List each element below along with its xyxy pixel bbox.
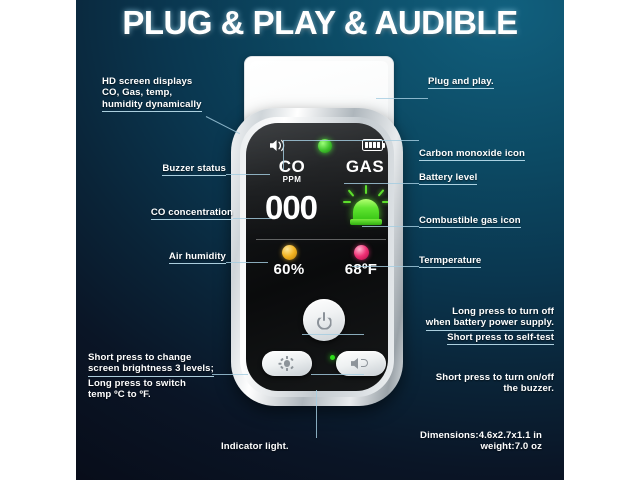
callout-self-test: Short press to self-test: [346, 332, 554, 345]
leader-co-icon-v: [283, 140, 284, 170]
leader-co-icon-h: [283, 140, 419, 141]
callout-temperature: Termperature: [419, 255, 481, 268]
leader-plug-and-play: [376, 98, 428, 99]
device-bezel: CO PPM GAS 000: [240, 117, 394, 397]
power-icon: [316, 312, 333, 329]
device-body: CO PPM GAS 000: [231, 108, 403, 406]
leader-air-humidity: [226, 262, 268, 263]
temperature-value: 68ºF: [330, 261, 388, 278]
callout-combustible-gas-icon: Combustible gas icon: [419, 215, 521, 228]
co-reading-value: 000: [252, 191, 330, 224]
brightness-icon: [280, 356, 295, 371]
humidity-value: 60%: [258, 261, 320, 278]
buzzer-icon: [351, 357, 371, 370]
callout-buzzer-status: Buzzer status: [76, 163, 226, 176]
leader-buzzer-toggle: [311, 374, 364, 375]
infographic-panel: PLUG & PLAY & AUDIBLE: [76, 0, 564, 480]
callout-temp-unit: Long press to switch temp ºC to ºF.: [88, 378, 186, 401]
callout-buzzer-toggle: Short press to turn on/off the buzzer.: [346, 372, 554, 395]
leader-indicator-light: [316, 390, 317, 438]
leader-combustible-gas-icon: [362, 226, 419, 227]
letterbox-left: [0, 0, 76, 480]
co-label: CO: [262, 157, 322, 177]
page-title: PLUG & PLAY & AUDIBLE: [76, 4, 564, 42]
combustible-gas-siren-icon: [342, 185, 388, 231]
temperature-readout: 68ºF: [330, 245, 388, 278]
device-screen: CO PPM GAS 000: [246, 123, 388, 281]
callout-co-concentration: CO concentration: [76, 207, 233, 220]
callout-carbon-monoxide-icon: Carbon monoxide icon: [419, 148, 525, 161]
screen-divider: [256, 239, 386, 240]
carbon-monoxide-icon: [318, 139, 332, 153]
leader-self-test: [302, 334, 364, 335]
leader-co-concentration: [233, 218, 271, 219]
device-illustration: CO PPM GAS 000: [206, 56, 426, 426]
callout-air-humidity: Air humidity: [76, 251, 226, 264]
gas-label: GAS: [334, 157, 388, 177]
temperature-icon: [354, 245, 369, 260]
infographic-stage: PLUG & PLAY & AUDIBLE: [0, 0, 640, 480]
callout-dimensions: Dimensions:4.6x2.7x1.1 in weight:7.0 oz: [334, 430, 542, 453]
leader-battery-level: [344, 183, 419, 184]
letterbox-right: [564, 0, 640, 480]
leader-buzzer-status: [226, 174, 270, 175]
indicator-led: [330, 355, 335, 360]
callout-battery-level: Battery level: [419, 172, 477, 185]
leader-brightness: [212, 374, 248, 375]
callout-indicator-light: Indicator light.: [221, 441, 289, 452]
callout-brightness: Short press to change screen brightness …: [88, 352, 214, 377]
brightness-button[interactable]: [262, 351, 312, 376]
screen-icon-row: [246, 139, 388, 155]
leader-temperature: [352, 266, 419, 267]
co-unit-label: PPM: [262, 175, 322, 184]
device-face: CO PPM GAS 000: [246, 123, 388, 391]
humidity-icon: [282, 245, 297, 260]
callout-power-off: Long press to turn off when battery powe…: [346, 306, 554, 331]
callout-hd-screen: HD screen displays CO, Gas, temp, humidi…: [102, 76, 202, 112]
callout-plug-and-play: Plug and play.: [428, 76, 494, 89]
